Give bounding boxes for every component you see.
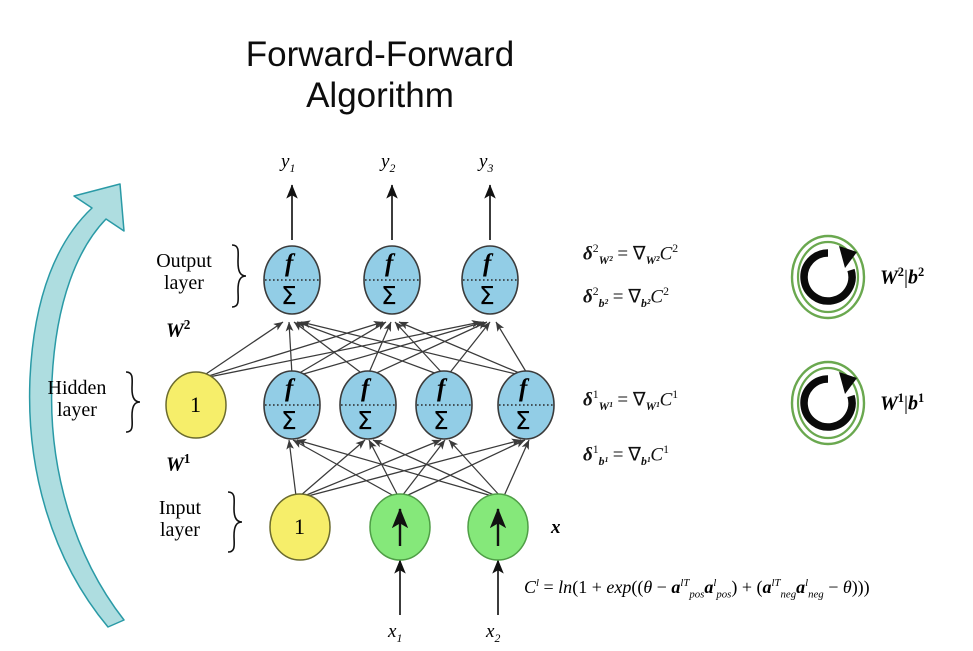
weight-label-w1: W1 <box>166 452 190 475</box>
input-vector-label: x <box>551 518 561 537</box>
input-node-2 <box>468 494 528 560</box>
neuron-output-2-sum: Σ <box>381 283 397 308</box>
update-icon-output <box>792 236 864 318</box>
gradient-eq-output-bias: δ2b² = ∇b²C2 <box>583 286 669 310</box>
neuron-hidden-2-sum: Σ <box>357 408 373 433</box>
gradient-eq-output-weights: δ2W² = ∇W²C2 <box>583 243 678 267</box>
input-layer-nodes <box>270 494 528 560</box>
edges-input-to-hidden <box>289 440 529 496</box>
edges-hidden-to-output <box>200 322 528 378</box>
output-arrows <box>292 185 490 240</box>
neuron-output-1-sum: Σ <box>281 283 297 308</box>
neuron-output-2-activation: f <box>385 251 393 276</box>
input-label-x1: x1 <box>388 622 402 645</box>
refresh-circle-icon <box>804 246 857 301</box>
neuron-output-3-sum: Σ <box>479 283 495 308</box>
brace-hidden-layer <box>126 372 140 432</box>
input-node-1 <box>370 494 430 560</box>
update-icon-hidden <box>792 362 864 444</box>
bias-node-input-value: 1 <box>294 516 305 538</box>
gradient-eq-hidden-weights: δ1W¹ = ∇W¹C1 <box>583 389 678 413</box>
neuron-hidden-2-activation: f <box>361 376 369 401</box>
input-label-x2: x2 <box>486 622 500 645</box>
brace-input-layer <box>228 492 242 552</box>
hidden-layer-label: Hidden layer <box>32 377 122 422</box>
brace-output-layer <box>232 245 246 307</box>
gradient-eq-hidden-bias: δ1b¹ = ∇b¹C1 <box>583 444 669 468</box>
output-label-y3: y3 <box>479 152 493 175</box>
neuron-hidden-3-sum: Σ <box>433 408 449 433</box>
update-label-layer-2: W2|b2 <box>880 266 924 288</box>
neuron-hidden-4-sum: Σ <box>515 408 531 433</box>
weight-label-w2: W2 <box>166 318 190 341</box>
diagram-canvas <box>0 0 973 651</box>
output-layer-label: Output layer <box>139 250 229 295</box>
neuron-hidden-4-activation: f <box>519 376 527 401</box>
neuron-output-3-activation: f <box>483 251 491 276</box>
output-label-y2: y2 <box>381 152 395 175</box>
output-label-y1: y1 <box>281 152 295 175</box>
loss-function-equation: Cl = ln(1 + exp((θ − alTposalpos) + (alT… <box>524 578 870 600</box>
forward-forward-diagram: Forward-Forward Algorithm <box>0 0 973 651</box>
update-label-layer-1: W1|b1 <box>880 392 924 414</box>
refresh-circle-icon <box>804 372 857 427</box>
neuron-hidden-3-activation: f <box>437 376 445 401</box>
neuron-hidden-1-sum: Σ <box>281 408 297 433</box>
bias-node-hidden-value: 1 <box>190 394 201 416</box>
input-feed-arrows <box>400 560 498 615</box>
neuron-hidden-1-activation: f <box>285 376 293 401</box>
neuron-output-1-activation: f <box>285 251 293 276</box>
input-layer-label: Input layer <box>135 497 225 542</box>
